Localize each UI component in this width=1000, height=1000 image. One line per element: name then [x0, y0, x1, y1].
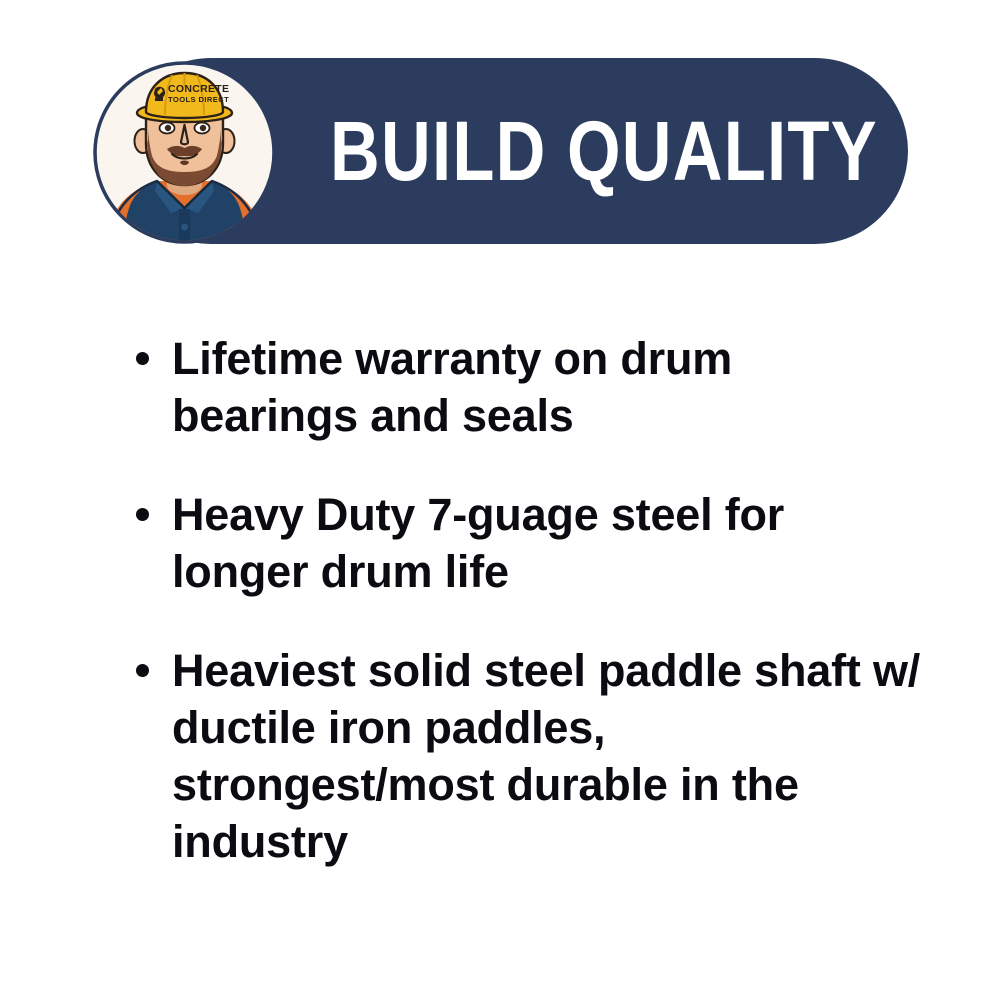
- list-item-label: Heavy Duty 7-guage steel for longer drum…: [172, 486, 930, 600]
- list-item: Lifetime warranty on drum bearings and s…: [130, 330, 930, 444]
- feature-list: Lifetime warranty on drum bearings and s…: [130, 330, 930, 870]
- hardhat-logo-line1: CONCRETE: [168, 83, 229, 95]
- worker-avatar-icon: CONCRETE TOOLS DIRECT: [93, 61, 276, 244]
- avatar: CONCRETE TOOLS DIRECT: [93, 61, 276, 244]
- list-item-label: Heaviest solid steel paddle shaft w/ duc…: [172, 642, 930, 870]
- bullet-icon: [136, 352, 149, 365]
- bullet-icon: [136, 508, 149, 521]
- page-title: BUILD QUALITY: [330, 58, 878, 244]
- list-item: Heaviest solid steel paddle shaft w/ duc…: [130, 642, 930, 870]
- bullet-icon: [136, 664, 149, 677]
- list-item: Heavy Duty 7-guage steel for longer drum…: [130, 486, 930, 600]
- list-item-label: Lifetime warranty on drum bearings and s…: [172, 330, 930, 444]
- hardhat-logo-line2: TOOLS DIRECT: [168, 95, 229, 104]
